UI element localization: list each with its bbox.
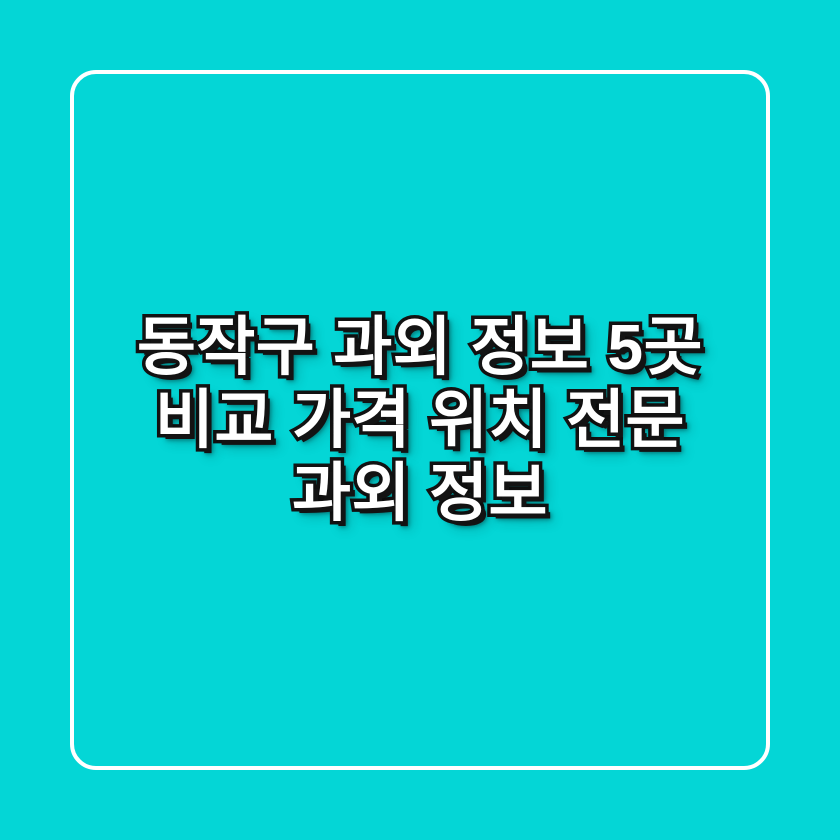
headline-line-3: 과외 정보 — [94, 457, 746, 530]
poster-canvas: 동작구 과외 정보 5곳 비교 가격 위치 전문 과외 정보 — [0, 0, 840, 840]
headline-line-2: 비교 가격 위치 전문 — [94, 384, 746, 457]
headline-line-1: 동작구 과외 정보 5곳 — [94, 311, 746, 384]
headline-block: 동작구 과외 정보 5곳 비교 가격 위치 전문 과외 정보 — [70, 70, 770, 770]
